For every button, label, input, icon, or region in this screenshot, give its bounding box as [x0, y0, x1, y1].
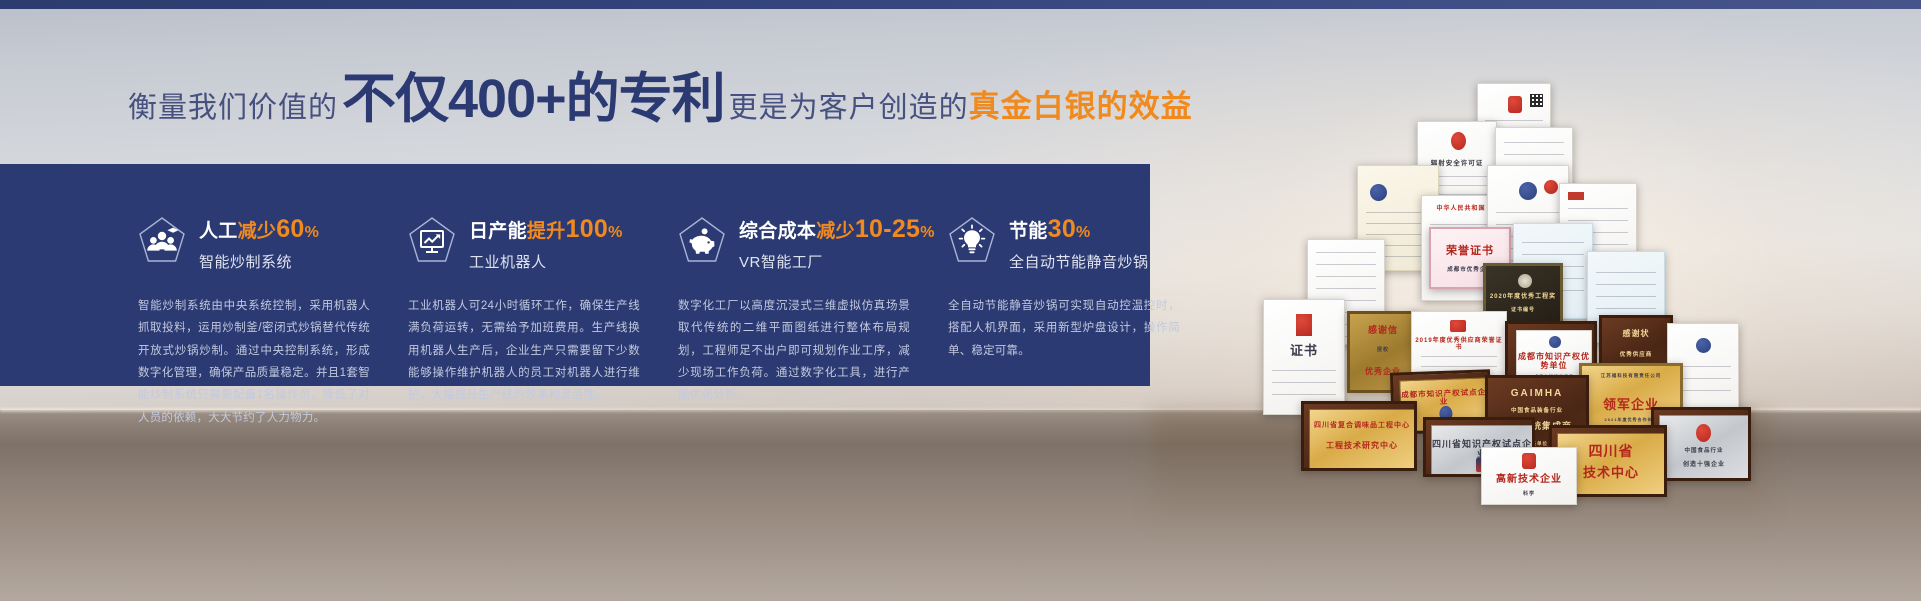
feature-title-number: 60 — [276, 215, 304, 243]
chart-board-icon — [408, 216, 456, 264]
feature-title-number: 10-25 — [855, 215, 920, 243]
feature-title-emphasis: 提升 — [527, 221, 566, 242]
features-panel: 人工减少60% 智能炒制系统 智能炒制系统由中央系统控制，采用机器人抓取投料，运… — [0, 164, 1150, 386]
feature-title-percent: % — [305, 224, 320, 241]
headline-middle: 更是为客户创造的 — [729, 84, 969, 126]
feature-title-plain: 人工 — [199, 221, 238, 242]
feature-body-text: 工业机器人可24小时循环工作，确保生产线满负荷运转，无需给予加班费用。生产线换用… — [408, 295, 640, 407]
feature-title-emphasis: 减少 — [238, 221, 277, 242]
feature-subtitle: VR智能工厂 — [739, 251, 935, 272]
feature-title-plain: 节能 — [1009, 221, 1048, 242]
feature-item-labor-reduction: 人工减少60% 智能炒制系统 智能炒制系统由中央系统控制，采用机器人抓取投料，运… — [138, 164, 400, 386]
feature-title-emphasis: 减少 — [816, 221, 855, 242]
headline: 衡量我们价值的 不仅400+的专利 更是为客户创造的 真金白银的效益 — [128, 72, 1193, 134]
certificate-item: 四川省复合调味品工程中心 工程技术研究中心 — [1301, 401, 1417, 471]
feature-title: 节能30% — [1009, 215, 1149, 244]
feature-subtitle: 智能炒制系统 — [199, 251, 319, 272]
feature-title: 日产能提升100% — [469, 215, 623, 244]
feature-subtitle: 全自动节能静音炒锅 — [1009, 251, 1149, 272]
banner-stage: 衡量我们价值的 不仅400+的专利 更是为客户创造的 真金白银的效益 — [0, 0, 1921, 601]
feature-item-daily-capacity: 日产能提升100% 工业机器人 工业机器人可24小时循环工作，确保生产线满负荷运… — [408, 164, 670, 386]
feature-title-plain: 日产能 — [469, 221, 527, 242]
certificate-label: 荣誉证书 — [1431, 245, 1509, 257]
feature-title-number: 30 — [1048, 215, 1076, 243]
top-accent-strip — [0, 0, 1921, 9]
feature-title-percent: % — [608, 224, 623, 241]
headline-highlight: 真金白银的效益 — [969, 81, 1193, 126]
piggy-bank-icon — [678, 216, 726, 264]
people-group-icon — [138, 216, 186, 264]
feature-title-percent: % — [920, 224, 935, 241]
feature-title-plain: 综合成本 — [739, 221, 816, 242]
certificates-pyramid: 辐射安全许可证 中华人民共和国 — [1195, 55, 1795, 475]
feature-item-energy-saving: 节能30% 全自动节能静音炒锅 全自动节能静音炒锅可实现自动控温控时，搭配人机界… — [948, 164, 1198, 386]
feature-body-text: 智能炒制系统由中央系统控制，采用机器人抓取投料，运用炒制釜/密闭式炒锅替代传统开… — [138, 295, 370, 430]
headline-prefix: 衡量我们价值的 — [128, 84, 338, 126]
lightbulb-icon — [948, 216, 996, 264]
certificate-label: 高新技术企业 — [1482, 474, 1576, 485]
feature-subtitle: 工业机器人 — [469, 251, 623, 272]
feature-title: 人工减少60% — [199, 215, 319, 244]
feature-item-total-cost: 综合成本减少10-25% VR智能工厂 数字化工厂以高度沉浸式三维虚拟仿真场景取… — [678, 164, 940, 386]
feature-body-text: 全自动节能静音炒锅可实现自动控温控时，搭配人机界面，采用新型炉盘设计，操作简单、… — [948, 295, 1180, 362]
feature-title-percent: % — [1076, 224, 1091, 241]
certificate-item: 证书 — [1263, 299, 1345, 415]
feature-body-text: 数字化工厂以高度沉浸式三维虚拟仿真场景取代传统的二维平面图纸进行整体布局规划，工… — [678, 295, 910, 407]
headline-emphasis: 不仅400+的专利 — [342, 72, 725, 126]
certificate-item: 高新技术企业 科学 — [1481, 447, 1577, 505]
feature-title-number: 100 — [566, 215, 609, 243]
certificate-label: 证书 — [1264, 344, 1344, 358]
feature-title: 综合成本减少10-25% — [739, 215, 935, 244]
